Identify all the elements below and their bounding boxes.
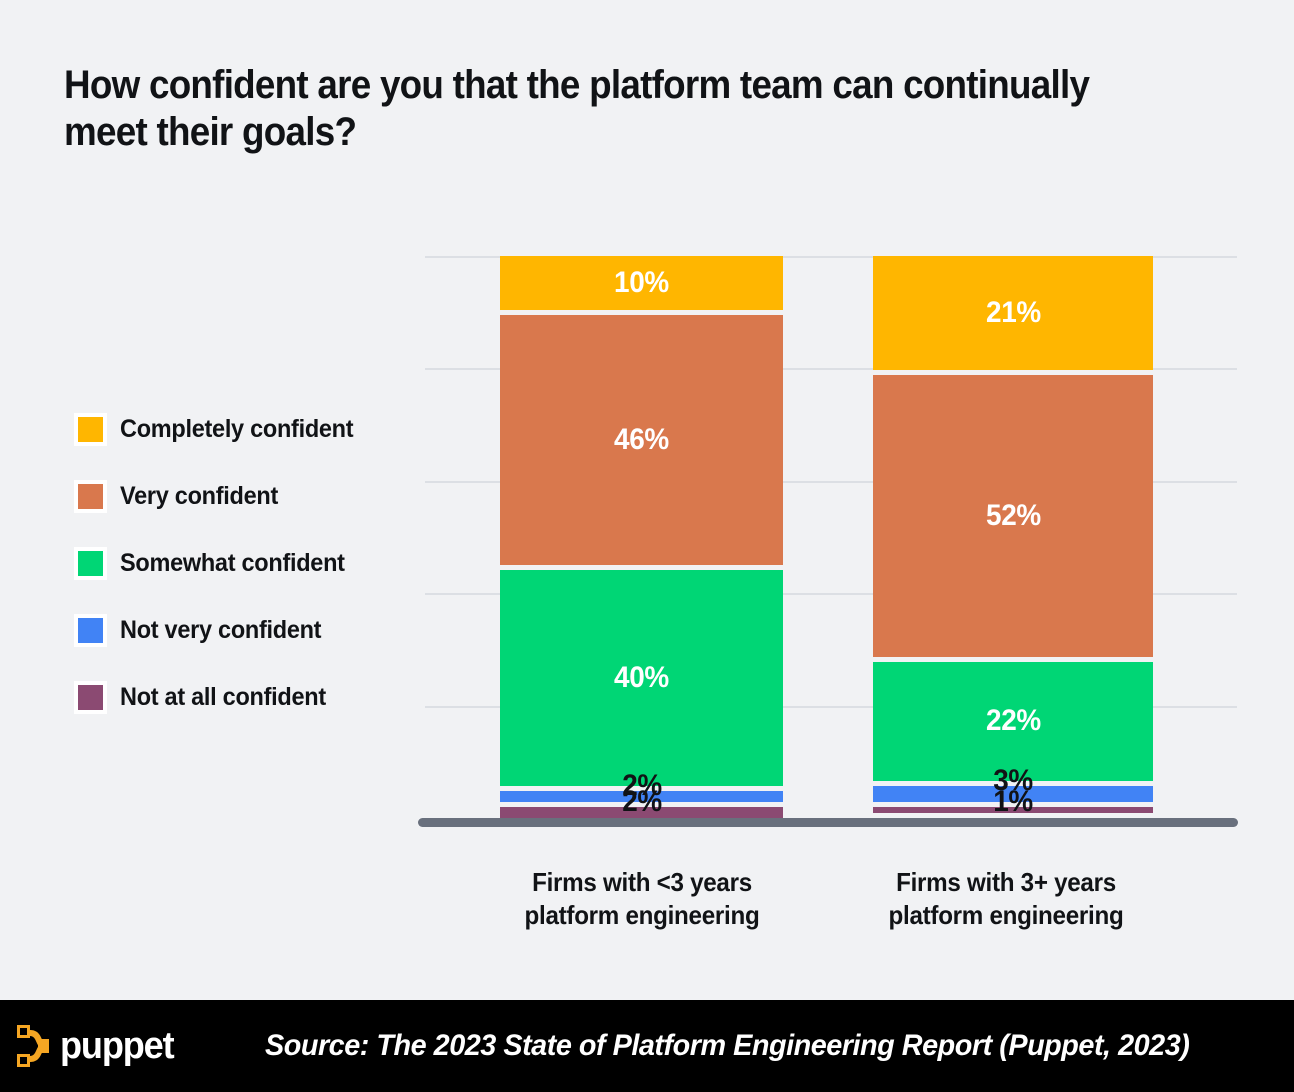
bar-segment[interactable]: 40%	[500, 570, 783, 787]
category-label-firms-3-plus-years: Firms with 3+ yearsplatform engineering	[848, 866, 1164, 933]
chart-legend: Completely confidentVery confidentSomewh…	[74, 396, 368, 731]
category-label-firms-lt-3-years: Firms with <3 yearsplatform engineering	[482, 866, 802, 933]
legend-swatch-icon	[74, 681, 107, 714]
legend-label: Not at all confident	[120, 683, 326, 712]
legend-item-0[interactable]: Completely confident	[74, 396, 368, 463]
bar-segment[interactable]: 46%	[500, 315, 783, 564]
bar-segment-value-label: 40%	[614, 661, 669, 695]
legend-item-2[interactable]: Somewhat confident	[74, 530, 368, 597]
puppet-wordmark: puppet	[60, 1025, 173, 1068]
stacked-column-firms-lt-3-years: 10%46%40%2%2%	[500, 256, 783, 818]
stacked-column-firms-3-plus-years: 21%52%22%3%1%	[873, 256, 1153, 818]
bar-segment[interactable]: 52%	[873, 375, 1153, 657]
legend-swatch-icon	[74, 547, 107, 580]
legend-item-3[interactable]: Not very confident	[74, 597, 368, 664]
source-attribution: Source: The 2023 State of Platform Engin…	[265, 1029, 1189, 1063]
bar-segment-value-label: 22%	[986, 704, 1041, 738]
legend-label: Very confident	[120, 482, 278, 511]
bar-segment-value-label: 1%	[993, 785, 1033, 819]
puppet-mark-icon	[14, 1021, 52, 1071]
bar-segment-value-label: 2%	[622, 785, 662, 819]
puppet-logo: puppet	[14, 1021, 179, 1071]
bar-segment[interactable]: 10%	[500, 256, 783, 310]
legend-label: Not very confident	[120, 616, 321, 645]
axis-baseline	[418, 818, 1238, 827]
bar-segment[interactable]: 2%	[500, 807, 783, 818]
legend-label: Somewhat confident	[120, 549, 345, 578]
bar-segment[interactable]: 21%	[873, 256, 1153, 370]
legend-swatch-icon	[74, 413, 107, 446]
footer-bar: puppet Source: The 2023 State of Platfor…	[0, 1000, 1294, 1092]
legend-swatch-icon	[74, 480, 107, 513]
bar-segment-value-label: 52%	[986, 499, 1041, 533]
legend-label: Completely confident	[120, 415, 353, 444]
legend-item-1[interactable]: Very confident	[74, 463, 368, 530]
bar-segment-value-label: 46%	[614, 423, 669, 457]
bar-segment-value-label: 10%	[614, 266, 669, 300]
bar-segment[interactable]: 1%	[873, 807, 1153, 812]
bar-segment-value-label: 21%	[986, 296, 1041, 330]
legend-swatch-icon	[74, 614, 107, 647]
legend-item-4[interactable]: Not at all confident	[74, 664, 368, 731]
